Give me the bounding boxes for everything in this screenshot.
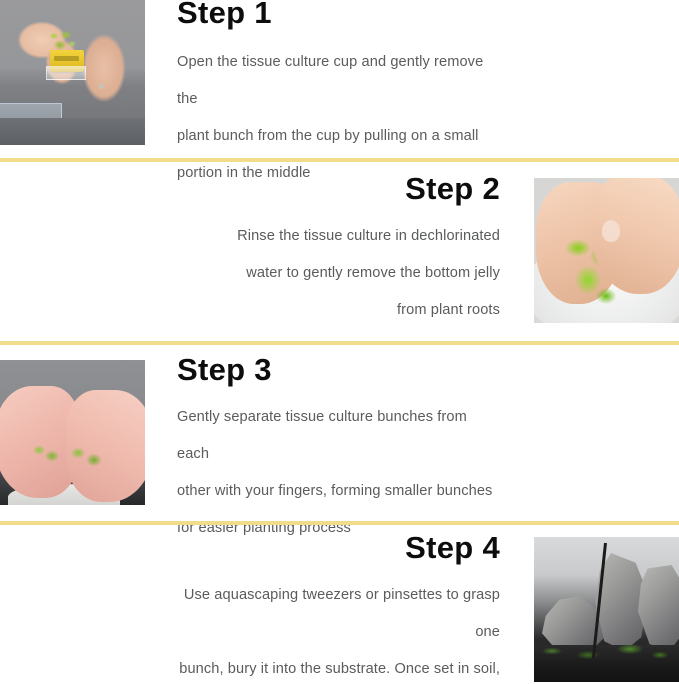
step-4-body-line-2: bunch, bury it into the substrate. Once …: [175, 651, 500, 684]
step-4-photo-background: [534, 537, 679, 682]
step-4-body: Use aquascaping tweezers or pinsettes to…: [175, 577, 500, 684]
step-section-2: Step 2 Rinse the tissue culture in dechl…: [0, 162, 679, 341]
step-section-3: Step 3 Gently separate tissue culture bu…: [0, 345, 679, 521]
step-4-photo: [534, 537, 679, 682]
step-3-title: Step 3: [177, 353, 502, 387]
step-3-body-line-1: Gently separate tissue culture bunches f…: [177, 399, 502, 473]
step-4-title: Step 4: [175, 531, 500, 565]
step-3-plant-bunch-right: [68, 444, 108, 474]
step-1-photo: [0, 0, 145, 145]
step-1-photo-background: [0, 0, 145, 145]
step-1-lower-shirt: [0, 118, 145, 145]
instruction-graphic: Step 1 Open the tissue culture cup and g…: [0, 0, 679, 684]
step-2-photo: [534, 178, 679, 323]
step-2-thumb-nail: [602, 220, 620, 242]
step-1-cup-lid: [46, 66, 86, 80]
step-3-photo-background: [0, 360, 145, 505]
step-1-body-line-2: plant bunch from the cup by pulling on a…: [177, 118, 502, 155]
step-2-title: Step 2: [175, 172, 500, 206]
step-3-body-line-2: other with your fingers, forming smaller…: [177, 473, 502, 510]
step-3-text-block: Step 3 Gently separate tissue culture bu…: [177, 353, 502, 547]
step-3-plant-bunch-left: [30, 442, 64, 468]
step-1-body-line-1: Open the tissue culture cup and gently r…: [177, 44, 502, 118]
step-section-4: Step 4 Use aquascaping tweezers or pinse…: [0, 525, 679, 684]
step-2-body: Rinse the tissue culture in dechlorinate…: [175, 218, 500, 329]
step-2-body-line-3: from plant roots: [175, 292, 500, 329]
step-2-body-line-1: Rinse the tissue culture in dechlorinate…: [175, 218, 500, 255]
step-2-text-block: Step 2 Rinse the tissue culture in dechl…: [175, 172, 500, 329]
step-1-title: Step 1: [177, 0, 502, 30]
step-4-body-line-1: Use aquascaping tweezers or pinsettes to…: [175, 577, 500, 651]
step-1-ring: [98, 84, 104, 89]
step-4-text-block: Step 4 Use aquascaping tweezers or pinse…: [175, 531, 500, 684]
step-2-body-line-2: water to gently remove the bottom jelly: [175, 255, 500, 292]
step-2-photo-background: [534, 178, 679, 323]
step-1-plant-bunch: [48, 30, 76, 52]
step-4-planted-carpet: [534, 637, 679, 667]
step-section-1: Step 1 Open the tissue culture cup and g…: [0, 0, 679, 158]
step-3-photo: [0, 360, 145, 505]
